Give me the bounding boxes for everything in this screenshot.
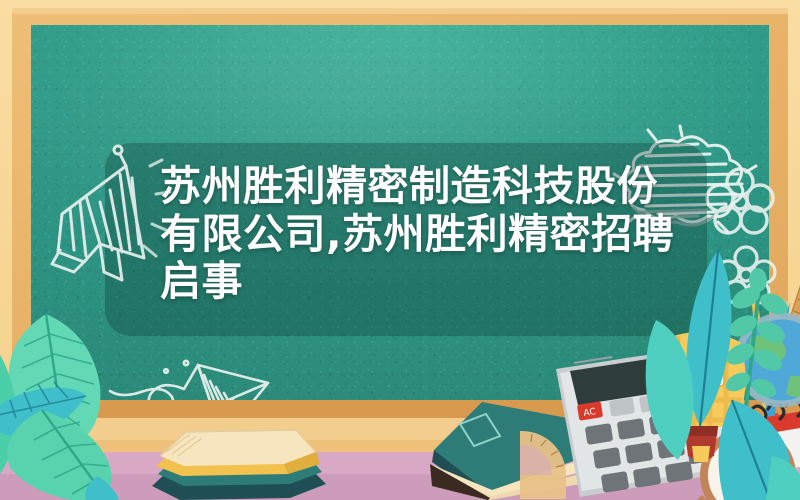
poster-canvas: 苏州胜利精密制造科技股份有限公司,苏州胜利精密招聘启事: [0, 0, 800, 500]
desk-surface: [0, 400, 800, 500]
desk-pink-band-lower: [0, 474, 800, 500]
page-title: 苏州胜利精密制造科技股份有限公司,苏州胜利精密招聘启事: [160, 163, 680, 306]
chalkboard-frame-highlight: [12, 8, 788, 14]
